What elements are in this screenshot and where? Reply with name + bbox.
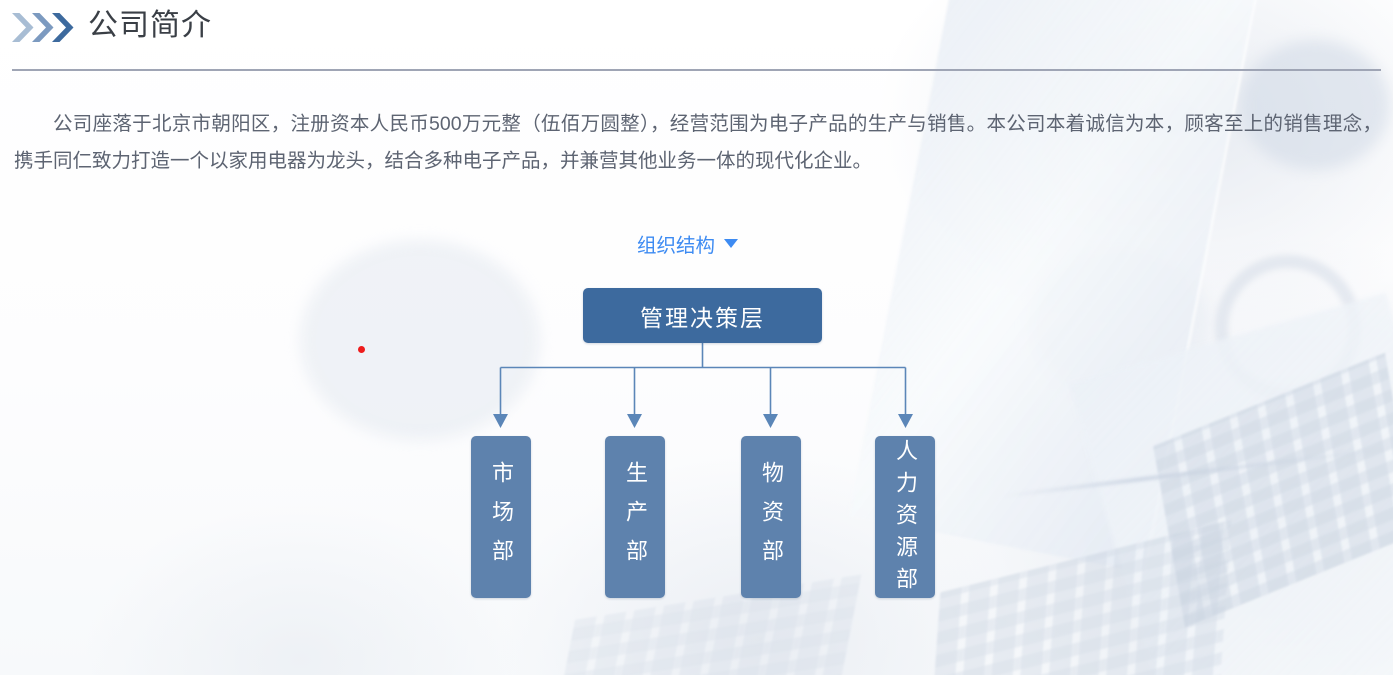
page-root: 公司简介 公司座落于北京市朝阳区，注册资本人民币500万元整（伍佰万圆整），经营…	[0, 0, 1393, 675]
org-node-label: 管理决策层	[640, 299, 765, 333]
org-chart: 组织结构 管理决策层	[0, 0, 1393, 675]
org-node-marketing[interactable]: 市场部	[471, 436, 531, 598]
org-node-materials[interactable]: 物资部	[741, 436, 801, 598]
org-node-human-resources[interactable]: 人力资源部	[875, 436, 935, 598]
arrowhead-icon-2	[763, 414, 778, 428]
org-node-production[interactable]: 生产部	[605, 436, 665, 598]
org-node-management[interactable]: 管理决策层	[583, 288, 822, 343]
chevron-down-icon	[724, 239, 738, 248]
org-chart-label-text: 组织结构	[637, 235, 715, 257]
org-node-label: 生产部	[624, 457, 646, 578]
org-node-label: 市场部	[490, 457, 512, 578]
arrowhead-icon-3	[898, 414, 913, 428]
red-dot-marker	[358, 346, 365, 353]
arrowhead-icon-1	[627, 414, 642, 428]
org-node-label: 人力资源部	[894, 435, 916, 599]
org-node-label: 物资部	[760, 457, 782, 578]
org-chart-label-dropdown[interactable]: 组织结构	[637, 232, 738, 260]
arrowhead-icon-0	[493, 414, 508, 428]
